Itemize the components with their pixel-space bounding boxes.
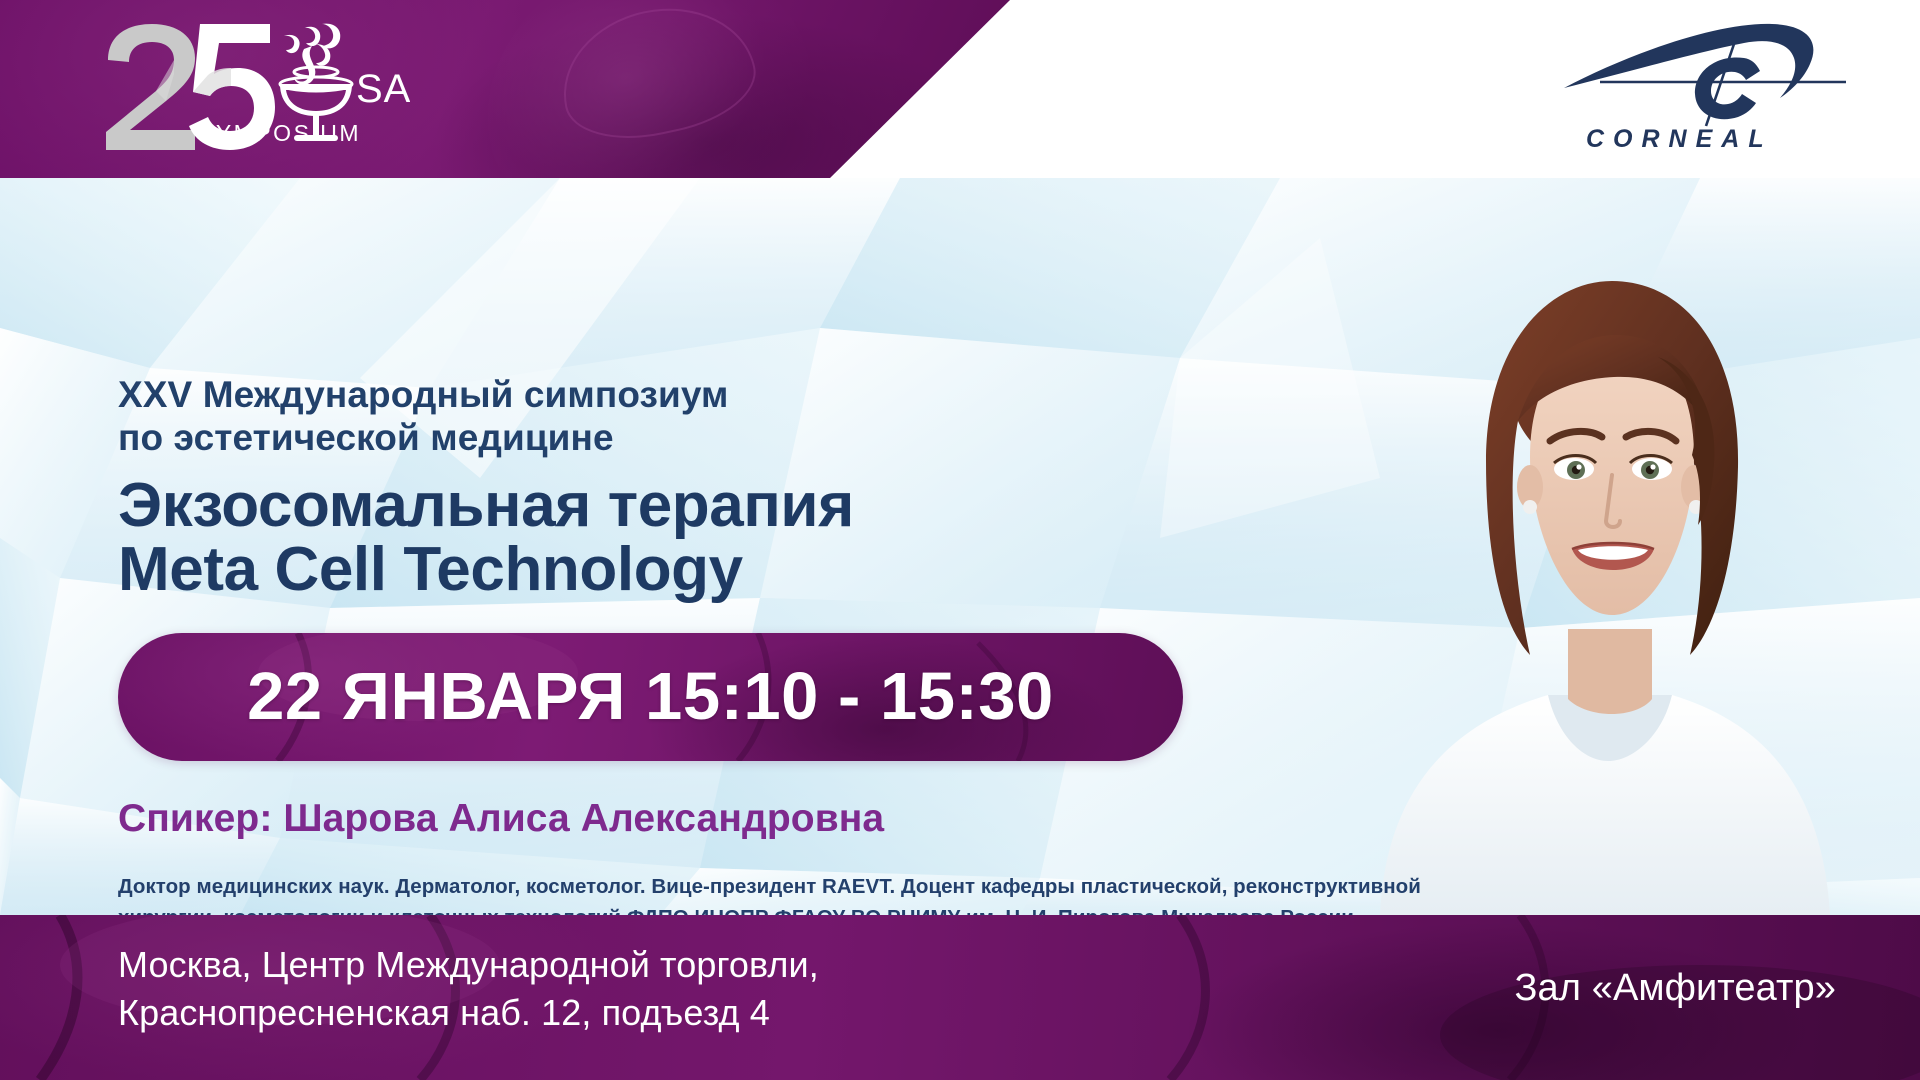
banner-header: SAM SYMPOSIUM CORNEAL	[0, 0, 1920, 178]
banner-content: XXV Международный симпозиум по эстетичес…	[118, 374, 1238, 915]
speaker-photo	[1340, 225, 1860, 915]
sam-wordmark-text: SAM	[356, 67, 410, 111]
venue-address: Москва, Центр Международной торговли, Кр…	[118, 941, 819, 1037]
speaker-bio: Доктор медицинских наук. Дерматолог, кос…	[118, 871, 1468, 915]
speaker-name: Спикер: Шарова Алиса Александровна	[118, 797, 1238, 841]
date-time-text: 22 ЯНВАРЯ 15:10 - 15:30	[247, 658, 1054, 735]
corneal-wordmark-text: CORNEAL	[1586, 125, 1773, 153]
banner-footer: Москва, Центр Международной торговли, Кр…	[0, 915, 1920, 1080]
banner-body: XXV Международный симпозиум по эстетичес…	[0, 178, 1920, 915]
sam-symposium-logo: SAM SYMPOSIUM	[100, 18, 400, 158]
hall-name: Зал «Амфитеатр»	[1515, 967, 1837, 1010]
date-time-badge: 22 ЯНВАРЯ 15:10 - 15:30	[118, 633, 1183, 761]
symposium-wordmark: SYMPOSIUM	[198, 120, 428, 147]
event-headline: Экзосомальная терапия Meta Cell Technolo…	[118, 474, 1238, 603]
event-announcement-banner: SAM SYMPOSIUM CORNEAL	[0, 0, 1920, 1080]
event-subtitle: XXV Международный симпозиум по эстетичес…	[118, 374, 1238, 460]
corneal-logo: CORNEAL	[1558, 14, 1858, 154]
sam-emblem-icon: SAM SYMPOSIUM	[260, 22, 410, 157]
